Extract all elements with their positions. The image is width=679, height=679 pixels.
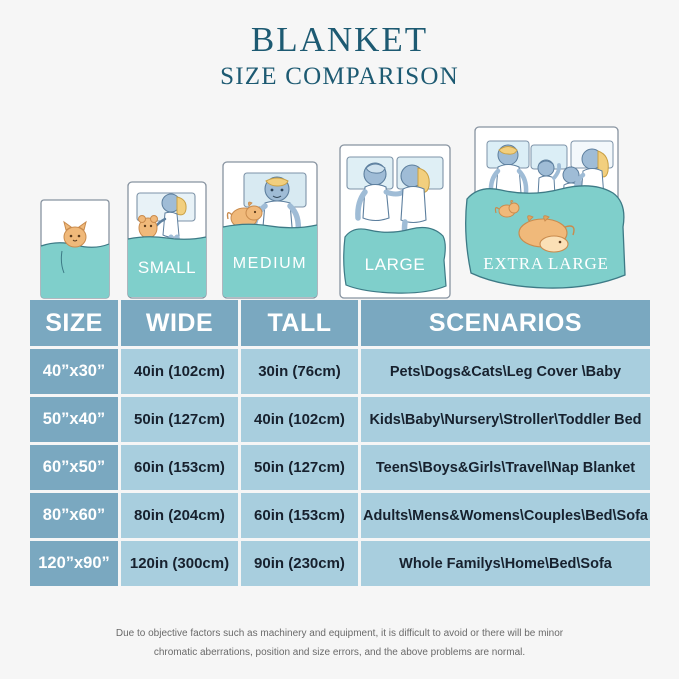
cell-wide: 40in (102cm) — [121, 349, 238, 394]
cell-scenarios: Kids\Baby\Nursery\Stroller\Toddler Bed — [361, 397, 650, 442]
teddy-bear-icon — [139, 215, 158, 238]
header-size: SIZE — [30, 300, 118, 346]
cell-size: 120”x90” — [30, 541, 118, 586]
cell-scenarios: Pets\Dogs&Cats\Leg Cover \Baby — [361, 349, 650, 394]
disclaimer-line-2: chromatic aberrations, position and size… — [0, 643, 679, 662]
header-wide: WIDE — [121, 300, 238, 346]
title-main: BLANKET — [0, 22, 679, 59]
cell-tall: 40in (102cm) — [241, 397, 358, 442]
cell-size: 50”x40” — [30, 397, 118, 442]
panel-label-extra-large: EXTRA LARGE — [483, 254, 608, 273]
table-header-row: SIZE WIDE TALL SCENARIOS — [30, 300, 650, 346]
cell-size: 80”x60” — [30, 493, 118, 538]
table-row: 80”x60” 80in (204cm) 60in (153cm) Adults… — [30, 493, 650, 538]
header-tall: TALL — [241, 300, 358, 346]
illustration-strip: SMALL — [0, 99, 679, 299]
table-row: 60”x50” 60in (153cm) 50in (127cm) TeenS\… — [30, 445, 650, 490]
cell-size: 40”x30” — [30, 349, 118, 394]
cell-size: 60”x50” — [30, 445, 118, 490]
disclaimer-note: Due to objective factors such as machine… — [0, 624, 679, 662]
illustration-panel-60x50: MEDIUM — [222, 161, 318, 299]
cell-tall: 50in (127cm) — [241, 445, 358, 490]
cell-scenarios: Adults\Mens&Womens\Couples\Bed\Sofa — [361, 493, 650, 538]
page-title: BLANKET SIZE COMPARISON — [0, 0, 679, 91]
panel-label-large: LARGE — [365, 255, 426, 274]
table-row: 50”x40” 50in (127cm) 40in (102cm) Kids\B… — [30, 397, 650, 442]
cell-scenarios: TeenS\Boys&Girls\Travel\Nap Blanket — [361, 445, 650, 490]
cell-tall: 60in (153cm) — [241, 493, 358, 538]
header-scenarios: SCENARIOS — [361, 300, 650, 346]
cell-tall: 90in (230cm) — [241, 541, 358, 586]
cell-wide: 80in (204cm) — [121, 493, 238, 538]
table-row: 40”x30” 40in (102cm) 30in (76cm) Pets\Do… — [30, 349, 650, 394]
table-row: 120”x90” 120in (300cm) 90in (230cm) Whol… — [30, 541, 650, 586]
illustration-panel-40x30 — [40, 199, 110, 299]
panel-label-medium: MEDIUM — [233, 255, 307, 272]
size-comparison-table: SIZE WIDE TALL SCENARIOS 40”x30” 40in (1… — [30, 300, 650, 589]
cell-scenarios: Whole Familys\Home\Bed\Sofa — [361, 541, 650, 586]
cell-wide: 120in (300cm) — [121, 541, 238, 586]
illustration-panel-120x90: EXTRA LARGE — [461, 123, 632, 299]
illustration-panel-80x60: LARGE — [339, 144, 451, 299]
disclaimer-line-1: Due to objective factors such as machine… — [0, 624, 679, 643]
panel-label-small: SMALL — [138, 258, 196, 277]
illustration-panel-50x40: SMALL — [127, 181, 207, 299]
cell-wide: 50in (127cm) — [121, 397, 238, 442]
cell-tall: 30in (76cm) — [241, 349, 358, 394]
title-subtitle: SIZE COMPARISON — [0, 63, 679, 91]
cell-wide: 60in (153cm) — [121, 445, 238, 490]
